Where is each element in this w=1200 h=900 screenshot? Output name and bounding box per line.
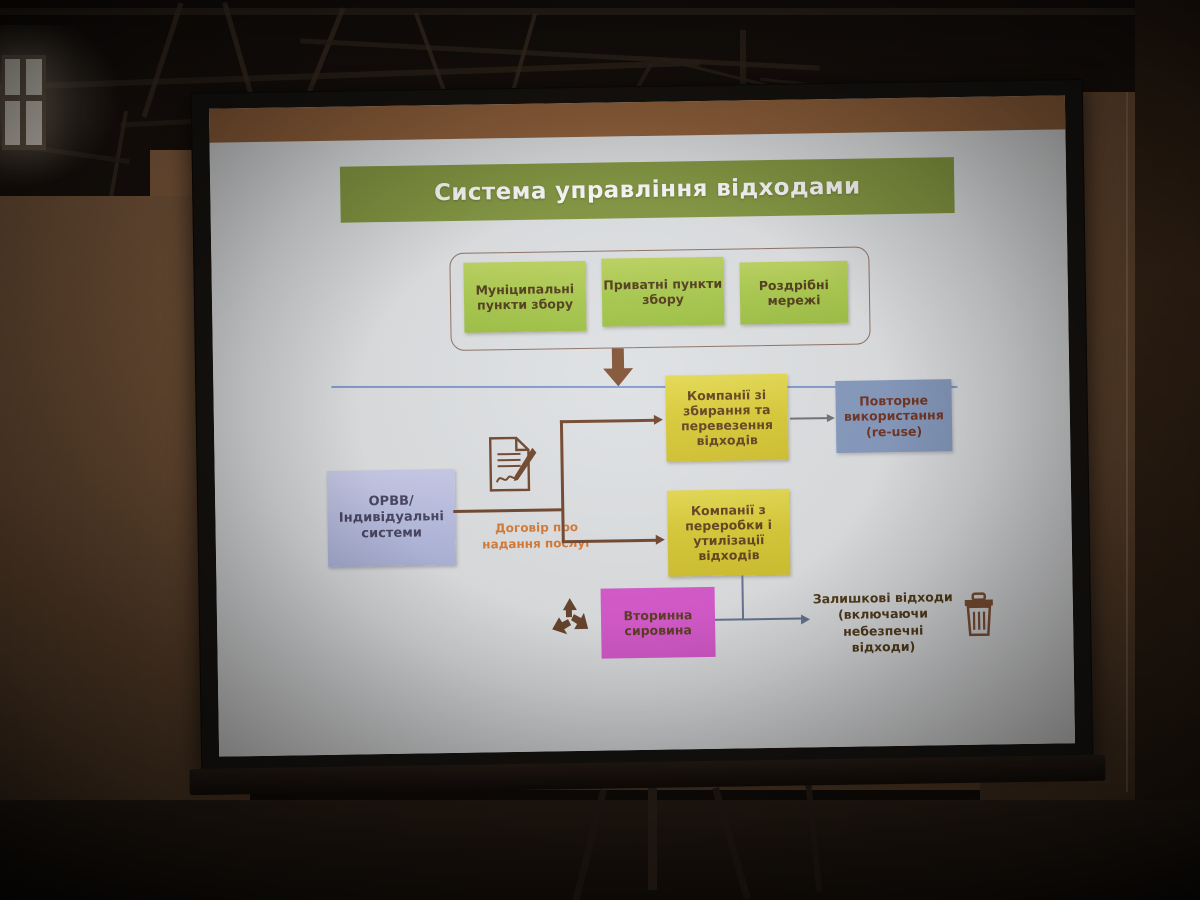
connector-bottom-right	[742, 618, 802, 621]
connector-source-trunk	[453, 508, 563, 512]
connector-bottom-vertical	[741, 575, 744, 619]
slide-content: Система управління відходами Муніципальн…	[209, 129, 1075, 756]
collection-box-retail-label: Роздрібні мережі	[740, 277, 848, 309]
residual-waste-text: Залишкові відходи (включаючи небезпечні …	[809, 589, 958, 656]
page-title: Система управління відходами	[434, 174, 861, 207]
hall-window	[2, 55, 46, 150]
reuse-box[interactable]: Повторне використання (re-use)	[835, 379, 952, 453]
trash-bin-icon	[961, 590, 998, 639]
connector-to-recycling-co	[562, 539, 658, 543]
collection-box-municipal-label: Муніципальні пункти збору	[464, 281, 586, 313]
connector-to-reuse	[790, 417, 828, 420]
tripod-pole	[648, 770, 657, 890]
collection-transport-companies-label: Компанії зі збирання та перевезення відх…	[665, 386, 788, 449]
connector-split-vertical	[560, 420, 564, 542]
epr-systems-box-label: ОРВВ/ Індивідуальні системи	[327, 493, 456, 543]
epr-systems-box[interactable]: ОРВВ/ Індивідуальні системи	[327, 469, 456, 567]
recycling-disposal-companies-box[interactable]: Компанії з переробки і утилізації відход…	[667, 489, 790, 577]
collection-box-private-label: Приватні пункти збору	[602, 275, 724, 307]
photo-scene: Система управління відходами Муніципальн…	[0, 0, 1200, 900]
projection-screen: Система управління відходами Муніципальн…	[191, 79, 1094, 773]
connector-to-collection-co	[560, 419, 656, 423]
collection-box-municipal[interactable]: Муніципальні пункти збору	[463, 261, 586, 333]
down-arrow-icon	[601, 348, 636, 387]
collection-transport-companies-box[interactable]: Компанії зі збирання та перевезення відх…	[665, 374, 788, 462]
collection-box-retail[interactable]: Роздрібні мережі	[739, 261, 848, 325]
slide-title-bar: Система управління відходами	[340, 157, 955, 223]
arrowhead-to-reuse	[827, 414, 835, 422]
secondary-raw-materials-label: Вторинна сировина	[601, 607, 715, 639]
arrowhead-to-recycling-co	[656, 535, 665, 545]
recycling-disposal-companies-label: Компанії з переробки і утилізації відход…	[667, 501, 790, 564]
reuse-box-label: Повторне використання (re-use)	[836, 392, 953, 440]
collection-box-private[interactable]: Приватні пункти збору	[601, 257, 724, 327]
recycle-icon	[547, 595, 594, 642]
far-right-wall	[1135, 0, 1200, 900]
contract-signature-icon	[484, 434, 539, 497]
contract-label: Договір про надання послуг	[471, 519, 601, 553]
arrowhead-to-collection-co	[654, 415, 663, 425]
screen-surface: Система управління відходами Муніципальн…	[209, 95, 1075, 756]
secondary-raw-materials-box[interactable]: Вторинна сировина	[601, 587, 716, 659]
